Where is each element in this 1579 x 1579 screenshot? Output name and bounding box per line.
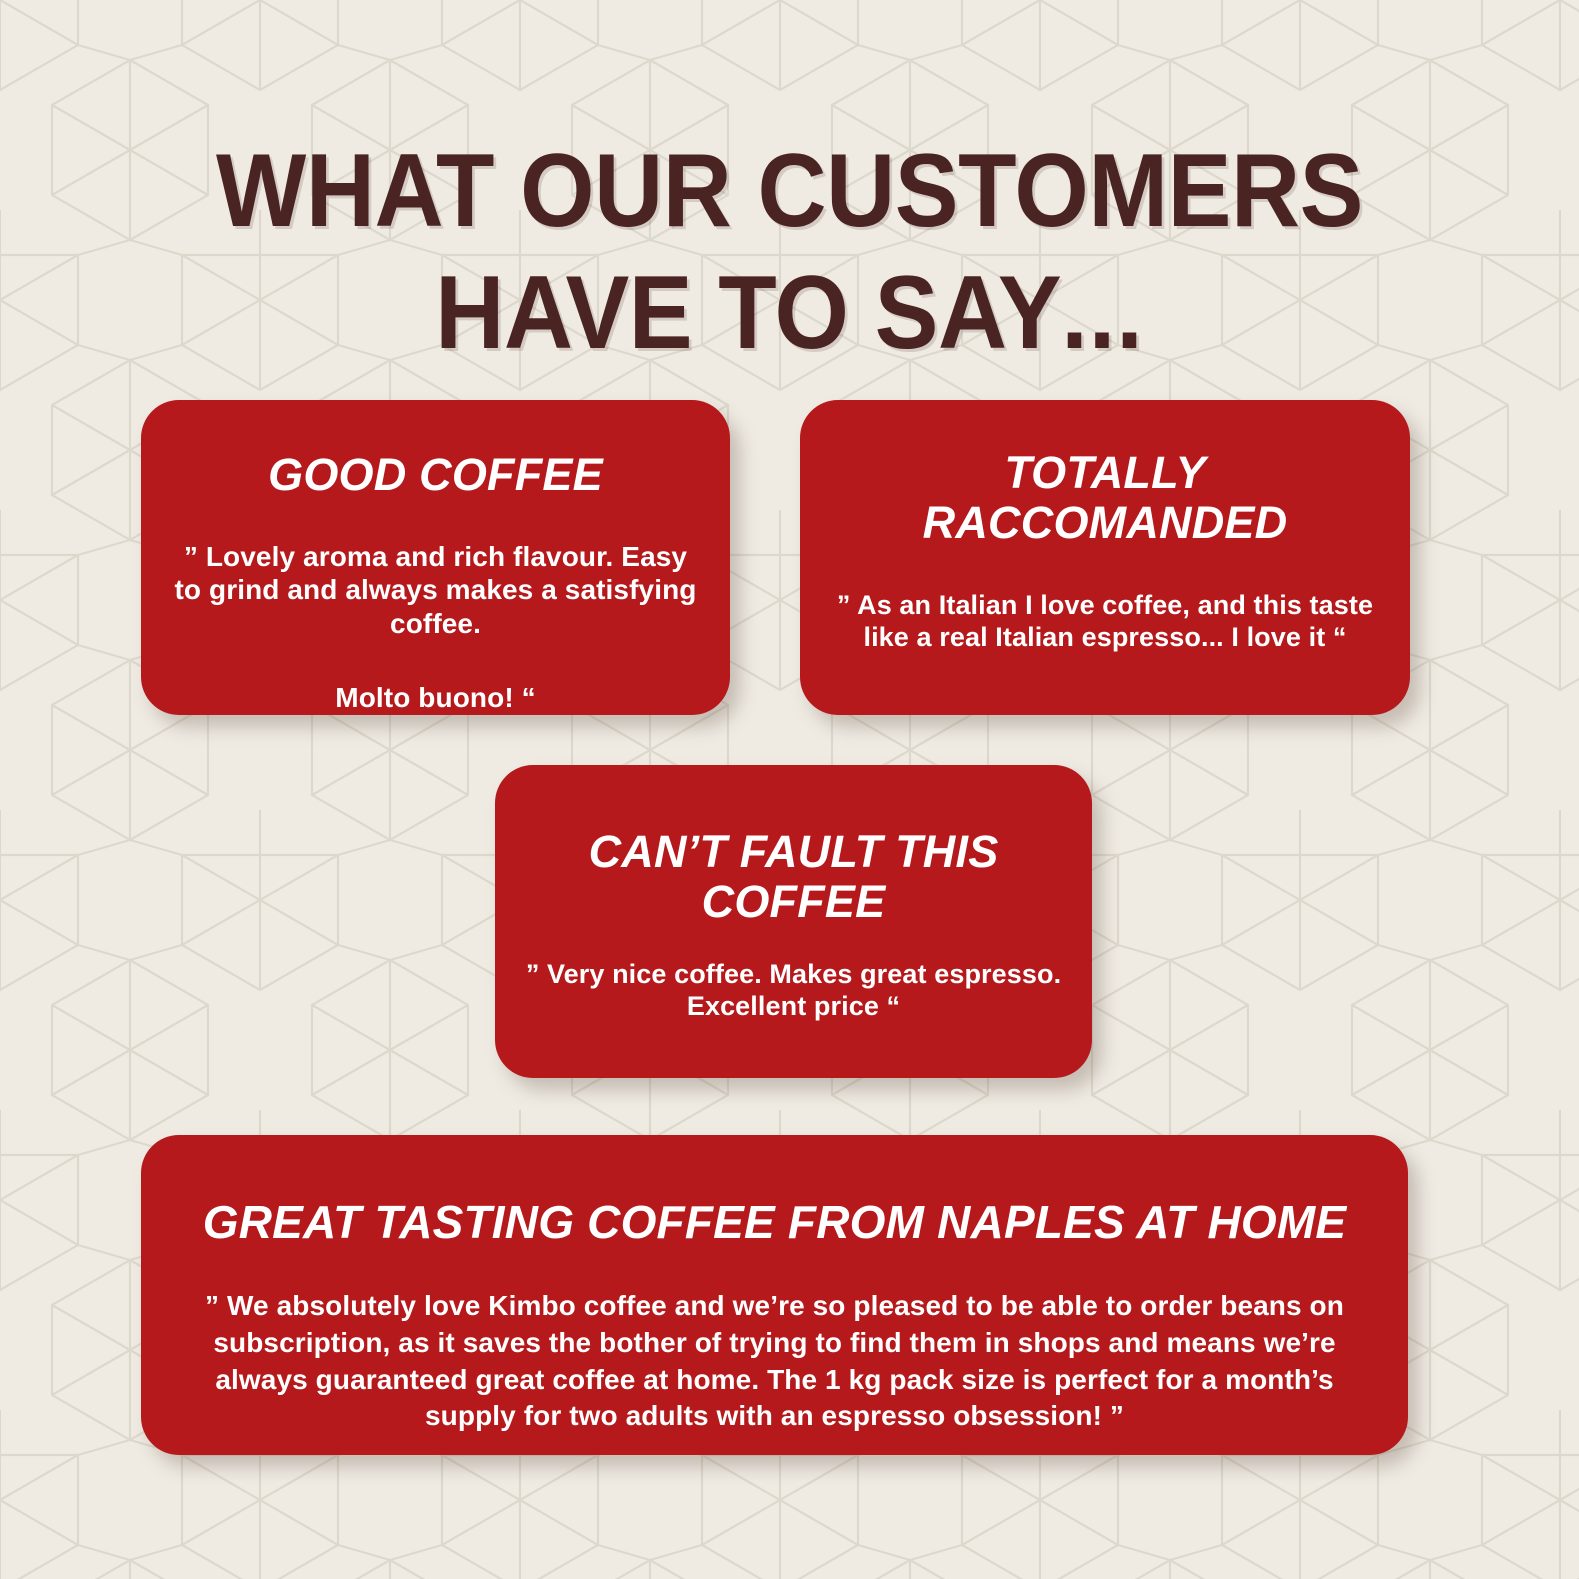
testimonial-card-good-coffee: GOOD COFFEE ” Lovely aroma and rich flav… (141, 400, 730, 715)
page-title: WHAT OUR CUSTOMERS HAVE TO SAY... (63, 130, 1516, 375)
testimonial-title: GOOD COFFEE (167, 450, 704, 500)
page-title-line-2-text: HAVE TO SAY (435, 255, 1061, 371)
testimonial-card-cant-fault-this-coffee: CAN’T FAULT THIS COFFEE ” Very nice coff… (495, 765, 1092, 1078)
testimonial-card-great-tasting-coffee: GREAT TASTING COFFEE FROM NAPLES AT HOME… (141, 1135, 1408, 1455)
page-title-ellipsis: ... (1061, 255, 1144, 371)
testimonial-quote-paragraph: ” As an Italian I love coffee, and this … (826, 589, 1384, 654)
testimonial-quote: ” Very nice coffee. Makes great espresso… (521, 958, 1066, 1023)
testimonial-quote-paragraph: ” Lovely aroma and rich flavour. Easy to… (167, 540, 704, 641)
testimonial-quote-paragraph: ” Very nice coffee. Makes great espresso… (521, 958, 1066, 1023)
testimonial-poster: WHAT OUR CUSTOMERS HAVE TO SAY... GOOD C… (0, 0, 1579, 1579)
testimonial-quote: ” As an Italian I love coffee, and this … (826, 589, 1384, 654)
testimonial-card-totally-raccomanded: TOTALLY RACCOMANDED ” As an Italian I lo… (800, 400, 1410, 715)
testimonial-title: GREAT TASTING COFFEE FROM NAPLES AT HOME (181, 1197, 1368, 1248)
testimonial-quote: ” We absolutely love Kimbo coffee and we… (181, 1288, 1368, 1436)
page-title-line-1: WHAT OUR CUSTOMERS (63, 130, 1516, 253)
testimonial-title: CAN’T FAULT THIS COFFEE (521, 827, 1066, 926)
testimonial-quote: ” Lovely aroma and rich flavour. Easy to… (167, 540, 704, 715)
testimonial-title: TOTALLY RACCOMANDED (826, 448, 1384, 547)
page-title-line-2: HAVE TO SAY... (63, 252, 1516, 375)
testimonial-quote-paragraph: ” We absolutely love Kimbo coffee and we… (181, 1288, 1368, 1436)
testimonial-quote-paragraph: Molto buono! “ (167, 681, 704, 715)
